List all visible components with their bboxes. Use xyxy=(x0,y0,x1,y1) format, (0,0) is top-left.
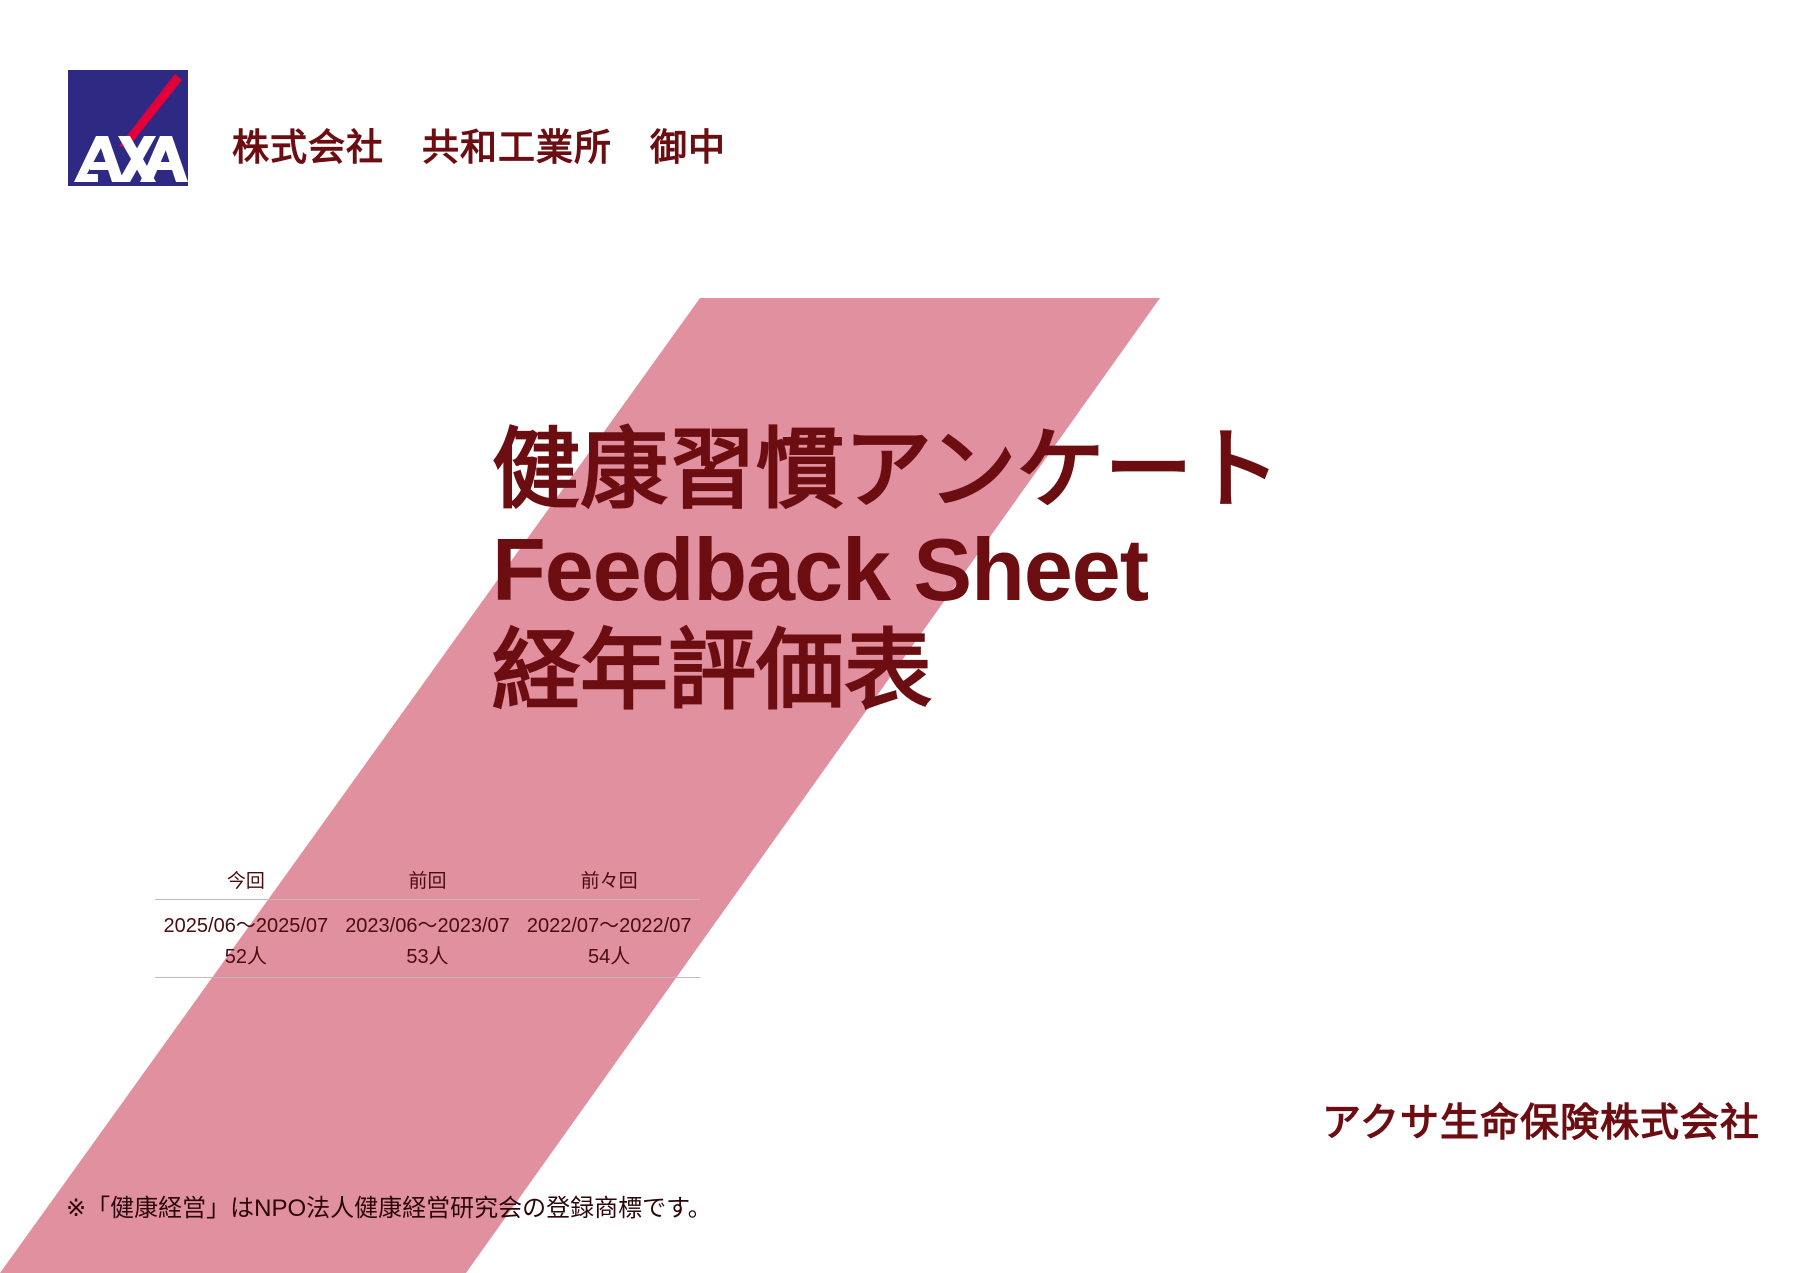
respondent-count-current: 52人 xyxy=(155,938,337,978)
table-header-previous2: 前々回 xyxy=(518,866,700,900)
table-header-previous: 前回 xyxy=(337,866,519,900)
table-header-current: 今回 xyxy=(155,866,337,900)
period-range-previous: 2023/06〜2023/07 xyxy=(337,900,519,939)
table-row-range: 2025/06〜2025/07 2023/06〜2023/07 2022/07〜… xyxy=(155,900,700,939)
respondent-count-previous: 53人 xyxy=(337,938,519,978)
title-line-3: 経年評価表 xyxy=(492,621,1280,721)
client-name: 株式会社 共和工業所 御中 xyxy=(232,117,726,171)
respondent-count-previous2: 54人 xyxy=(518,938,700,978)
period-range-previous2: 2022/07〜2022/07 xyxy=(518,900,700,939)
slide-canvas: 株式会社 共和工業所 御中 健康習慣アンケート Feedback Sheet 経… xyxy=(0,0,1800,1273)
trademark-footnote: ※「健康経営」はNPO法人健康経営研究会の登録商標です。 xyxy=(66,1188,712,1223)
title-line-1: 健康習慣アンケート xyxy=(492,420,1280,520)
insurer-name: アクサ生命保険株式会社 xyxy=(1322,1092,1760,1148)
period-range-current: 2025/06〜2025/07 xyxy=(155,900,337,939)
table-row-count: 52人 53人 54人 xyxy=(155,938,700,978)
table-header-row: 今回 前回 前々回 xyxy=(155,866,700,900)
axa-logo xyxy=(68,70,188,186)
title-line-2: Feedback Sheet xyxy=(492,520,1280,620)
page-title: 健康習慣アンケート Feedback Sheet 経年評価表 xyxy=(492,420,1280,721)
survey-period-table: 今回 前回 前々回 2025/06〜2025/07 2023/06〜2023/0… xyxy=(155,866,700,978)
